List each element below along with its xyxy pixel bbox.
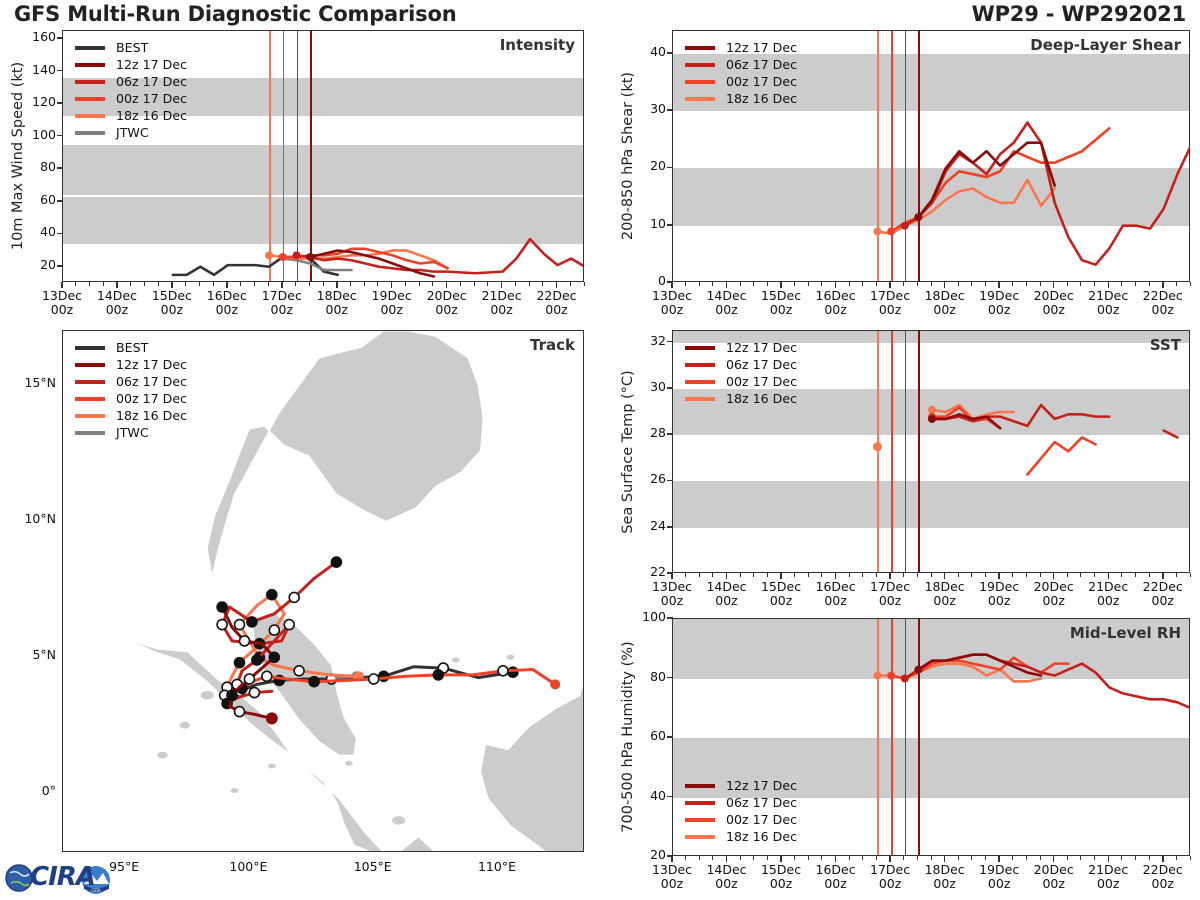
legend-item-label: 12z 17 Dec	[726, 340, 797, 355]
rh-ytick-label: 20	[626, 847, 666, 862]
rh-xtick-minor	[985, 856, 986, 860]
shear-panel-title: Deep-Layer Shear	[1030, 36, 1181, 54]
rh-xtick-minor	[1190, 856, 1191, 860]
legend-item-label: 00z 17 Dec	[116, 391, 187, 406]
legend-color-swatch	[685, 380, 715, 384]
rh-xtick-minor	[794, 856, 795, 860]
rh-xtick-minor	[1080, 856, 1081, 860]
legend-item-label: 00z 17 Dec	[726, 74, 797, 89]
intensity-panel-title: Intensity	[500, 36, 575, 54]
rh-series-start-marker	[873, 672, 881, 680]
rh-xtick-minor	[685, 856, 686, 860]
rh-xtick-minor	[821, 856, 822, 860]
rh-xtick-minor	[1040, 856, 1041, 860]
rh-xtick-minor	[740, 856, 741, 860]
legend-item-label: BEST	[116, 340, 148, 355]
legend-color-swatch	[685, 46, 715, 50]
shear-legend-item[interactable]: 06z 17 Dec	[685, 56, 797, 73]
sst-legend-item[interactable]: 12z 17 Dec	[685, 339, 797, 356]
rh-xtick-minor	[958, 856, 959, 860]
legend-item-label: 00z 17 Dec	[116, 91, 187, 106]
rh-xtick-minor	[849, 856, 850, 860]
legend-item-label: 06z 17 Dec	[726, 57, 797, 72]
sst-panel-title: SST	[1150, 336, 1181, 354]
rh-plot-area[interactable]: Mid-Level RH 12z 17 Dec 06z 17 Dec 00z 1…	[672, 618, 1190, 856]
intensity-legend-item[interactable]: 12z 17 Dec	[75, 56, 187, 73]
intensity-legend: BEST 12z 17 Dec 06z 17 Dec 00z 17 Dec 18…	[75, 39, 187, 141]
rh-xtick-minor	[1176, 856, 1177, 860]
rh-xtick-minor	[917, 856, 918, 860]
legend-item-label: 12z 17 Dec	[116, 57, 187, 72]
track-legend-item[interactable]: 18z 16 Dec	[75, 407, 187, 424]
rh-xtick-minor	[862, 856, 863, 860]
rh-xtick-minor	[712, 856, 713, 860]
legend-color-swatch	[685, 80, 715, 84]
legend-item-label: 12z 17 Dec	[726, 40, 797, 55]
rh-xtick-minor	[699, 856, 700, 860]
legend-color-swatch	[685, 801, 715, 805]
legend-color-swatch	[685, 63, 715, 67]
legend-item-label: 06z 17 Dec	[726, 357, 797, 372]
legend-item-label: 18z 16 Dec	[726, 391, 797, 406]
intensity-legend-item[interactable]: JTWC	[75, 124, 187, 141]
legend-color-swatch	[685, 346, 715, 350]
track-legend-item[interactable]: 12z 17 Dec	[75, 356, 187, 373]
rh-xtick-minor	[808, 856, 809, 860]
rh-legend-item[interactable]: 06z 17 Dec	[685, 794, 797, 811]
rh-legend-item[interactable]: 18z 16 Dec	[685, 828, 797, 845]
sst-legend-item[interactable]: 06z 17 Dec	[685, 356, 797, 373]
legend-color-swatch	[75, 97, 105, 101]
rh-xtick-minor	[1012, 856, 1013, 860]
legend-color-swatch	[75, 397, 105, 401]
legend-item-label: 18z 16 Dec	[726, 829, 797, 844]
legend-item-label: 06z 17 Dec	[116, 374, 187, 389]
rh-panel-title: Mid-Level RH	[1070, 624, 1181, 642]
rh-xtick-label: 22Dec00z	[1130, 863, 1196, 891]
legend-item-label: 18z 16 Dec	[116, 408, 187, 423]
legend-color-swatch	[685, 784, 715, 788]
legend-item-label: 00z 17 Dec	[726, 812, 797, 827]
rh-xtick-minor	[1121, 856, 1122, 860]
track-legend: BEST 12z 17 Dec 06z 17 Dec 00z 17 Dec 18…	[75, 339, 187, 441]
rh-series-start-marker	[901, 675, 909, 683]
cira-logo: CIRA CIRA	[4, 856, 122, 898]
rh-series-start-marker	[887, 672, 895, 680]
legend-item-label: 00z 17 Dec	[726, 374, 797, 389]
legend-item-label: 06z 17 Dec	[116, 74, 187, 89]
legend-color-swatch	[75, 431, 105, 435]
shear-legend-item[interactable]: 00z 17 Dec	[685, 73, 797, 90]
sst-legend-item[interactable]: 18z 16 Dec	[685, 390, 797, 407]
rh-legend: 12z 17 Dec 06z 17 Dec 00z 17 Dec 18z 16 …	[685, 777, 797, 845]
rh-xtick-minor	[1067, 856, 1068, 860]
sst-legend: 12z 17 Dec 06z 17 Dec 00z 17 Dec 18z 16 …	[685, 339, 797, 407]
track-legend-item[interactable]: BEST	[75, 339, 187, 356]
rh-xtick-minor	[1149, 856, 1150, 860]
legend-color-swatch	[685, 835, 715, 839]
shear-legend: 12z 17 Dec 06z 17 Dec 00z 17 Dec 18z 16 …	[685, 39, 797, 107]
legend-color-swatch	[75, 80, 105, 84]
rh-series-start-marker	[914, 666, 922, 674]
intensity-legend-item[interactable]: BEST	[75, 39, 187, 56]
legend-color-swatch	[75, 114, 105, 118]
rh-xtick-minor	[1094, 856, 1095, 860]
track-legend-item[interactable]: 06z 17 Dec	[75, 373, 187, 390]
legend-color-swatch	[75, 363, 105, 367]
rh-ytick-mark	[667, 677, 673, 679]
legend-color-swatch	[685, 97, 715, 101]
rh-xtick-minor	[753, 856, 754, 860]
rh-xtick-minor	[971, 856, 972, 860]
legend-color-swatch	[685, 818, 715, 822]
intensity-legend-item[interactable]: 00z 17 Dec	[75, 90, 187, 107]
rh-ylabel: 700-500 hPa Humidity (%)	[620, 546, 636, 737]
rh-xtick-minor	[767, 856, 768, 860]
rh-legend-item[interactable]: 00z 17 Dec	[685, 811, 797, 828]
intensity-legend-item[interactable]: 18z 16 Dec	[75, 107, 187, 124]
legend-item-label: JTWC	[116, 425, 149, 440]
legend-color-swatch	[75, 380, 105, 384]
legend-color-swatch	[75, 131, 105, 135]
track-legend-item[interactable]: 00z 17 Dec	[75, 390, 187, 407]
sst-legend-item[interactable]: 00z 17 Dec	[685, 373, 797, 390]
rh-legend-item[interactable]: 12z 17 Dec	[685, 777, 797, 794]
rh-xtick-minor	[876, 856, 877, 860]
shear-legend-item[interactable]: 12z 17 Dec	[685, 39, 797, 56]
track-panel-title: Track	[530, 336, 575, 354]
legend-color-swatch	[75, 46, 105, 50]
rh-ytick-mark	[667, 796, 673, 798]
rh-xtick-minor	[1135, 856, 1136, 860]
rh-xtick-minor	[903, 856, 904, 860]
legend-item-label: JTWC	[116, 125, 149, 140]
legend-color-swatch	[75, 63, 105, 67]
legend-color-swatch	[685, 397, 715, 401]
legend-item-label: 18z 16 Dec	[116, 108, 187, 123]
legend-item-label: 18z 16 Dec	[726, 91, 797, 106]
legend-color-swatch	[75, 414, 105, 418]
legend-item-label: 06z 17 Dec	[726, 795, 797, 810]
legend-item-label: BEST	[116, 40, 148, 55]
legend-color-swatch	[75, 346, 105, 350]
cira-logo-text: CIRA	[30, 862, 95, 892]
rh-ytick-mark	[667, 736, 673, 738]
rh-xtick-minor	[1026, 856, 1027, 860]
legend-item-label: 12z 17 Dec	[116, 357, 187, 372]
legend-item-label: 12z 17 Dec	[726, 778, 797, 793]
rh-xtick-minor	[931, 856, 932, 860]
intensity-legend-item[interactable]: 06z 17 Dec	[75, 73, 187, 90]
shear-legend-item[interactable]: 18z 16 Dec	[685, 90, 797, 107]
track-legend-item[interactable]: JTWC	[75, 424, 187, 441]
legend-color-swatch	[685, 363, 715, 367]
rh-ytick-mark	[667, 617, 673, 619]
